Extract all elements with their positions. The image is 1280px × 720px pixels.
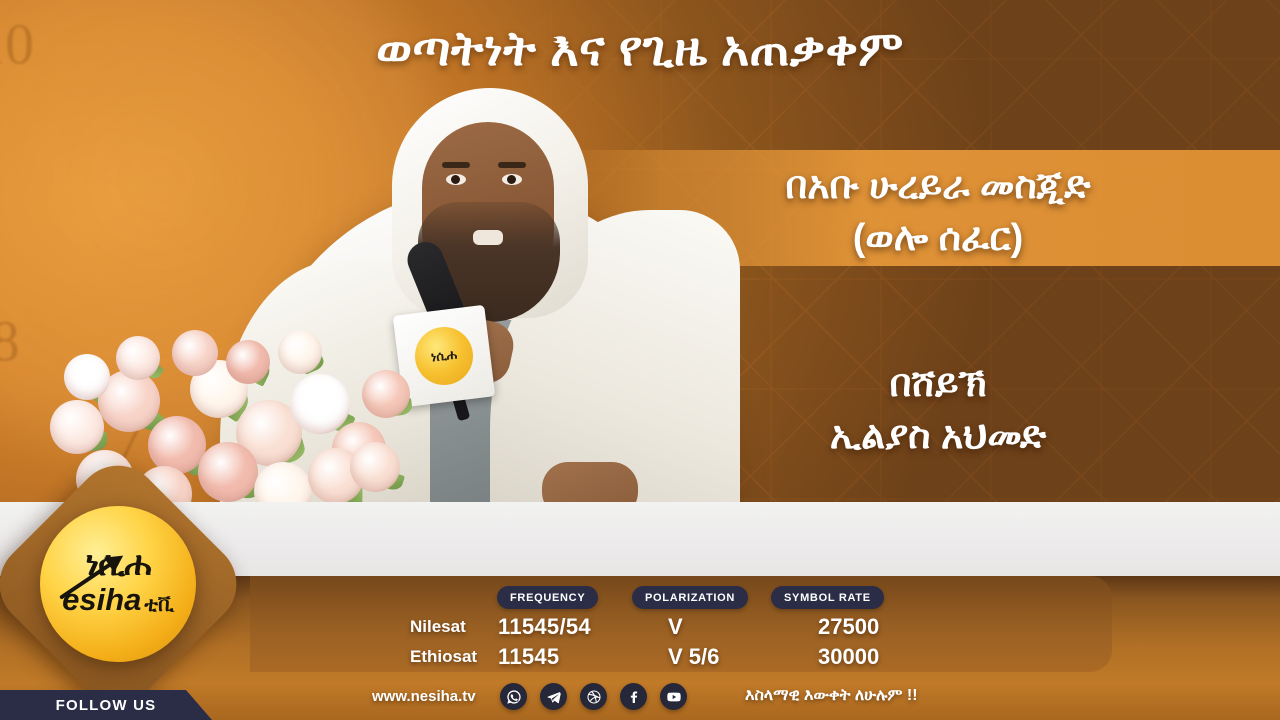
satellite-polarization: V 5/6 — [668, 642, 818, 672]
nesiha-logo[interactable]: ነሲሐ esiha ቲቪ — [40, 506, 196, 662]
satellite-name: Nilesat — [410, 612, 498, 642]
tagline-text: እስላማዊ እውቀት ለሁሉም !! — [745, 687, 918, 705]
speaker-pupil-right — [507, 175, 516, 184]
satellite-table: Nilesat 11545/54 V 27500 Ethiosat 11545 … — [410, 612, 970, 672]
youtube-icon[interactable] — [660, 683, 687, 710]
satellite-frequency: 11545/54 — [498, 612, 668, 642]
follow-us-label: FOLLOW US — [0, 690, 212, 720]
header-polarization: POLARIZATION — [632, 586, 748, 609]
dribbble-icon[interactable] — [580, 683, 607, 710]
facebook-icon[interactable] — [620, 683, 647, 710]
broadcast-promo-graphic: 12 11 10 9 8 7 ነሲሐ ወጣትነት እና የጊዜ አጠቃቀም — [0, 0, 1280, 720]
speaker-label: በሸይኽ — [638, 358, 1238, 410]
satellite-symbol-rate: 30000 — [818, 642, 970, 672]
whatsapp-icon[interactable] — [500, 683, 527, 710]
satellite-symbol-rate: 27500 — [818, 612, 970, 642]
social-links — [500, 683, 687, 710]
speaker-pupil-left — [451, 175, 460, 184]
speaker-brow-left — [442, 162, 470, 168]
satellite-frequency: 11545 — [498, 642, 668, 672]
header-frequency: FREQUENCY — [497, 586, 598, 609]
page-title: ወጣትነት እና የጊዜ አጠቃቀም — [0, 22, 1280, 78]
venue-line-2: (ወሎ ሰፈር) — [638, 212, 1238, 264]
speaker-block: በሸይኽ ኢልያስ አህመድ — [638, 358, 1238, 463]
website-link[interactable]: www.nesiha.tv — [372, 688, 476, 705]
telegram-icon[interactable] — [540, 683, 567, 710]
logo-tv-text: ቲቪ — [144, 596, 174, 615]
header-symbol-rate: SYMBOL RATE — [771, 586, 884, 609]
satellite-polarization: V — [668, 612, 818, 642]
table-row: Nilesat 11545/54 V 27500 — [410, 612, 970, 642]
table-row: Ethiosat 11545 V 5/6 30000 — [410, 642, 970, 672]
venue-block: በአቡ ሁረይራ መስጂድ (ወሎ ሰፈር) — [638, 160, 1238, 265]
satellite-name: Ethiosat — [410, 642, 498, 672]
venue-line-1: በአቡ ሁረይራ መስጂድ — [638, 160, 1238, 212]
mic-flag-logo: ነሲሐ — [412, 324, 477, 389]
speaker-mouth — [473, 230, 503, 245]
speaker-brow-right — [498, 162, 526, 168]
speaker-name: ኢልያስ አህመድ — [638, 410, 1238, 462]
